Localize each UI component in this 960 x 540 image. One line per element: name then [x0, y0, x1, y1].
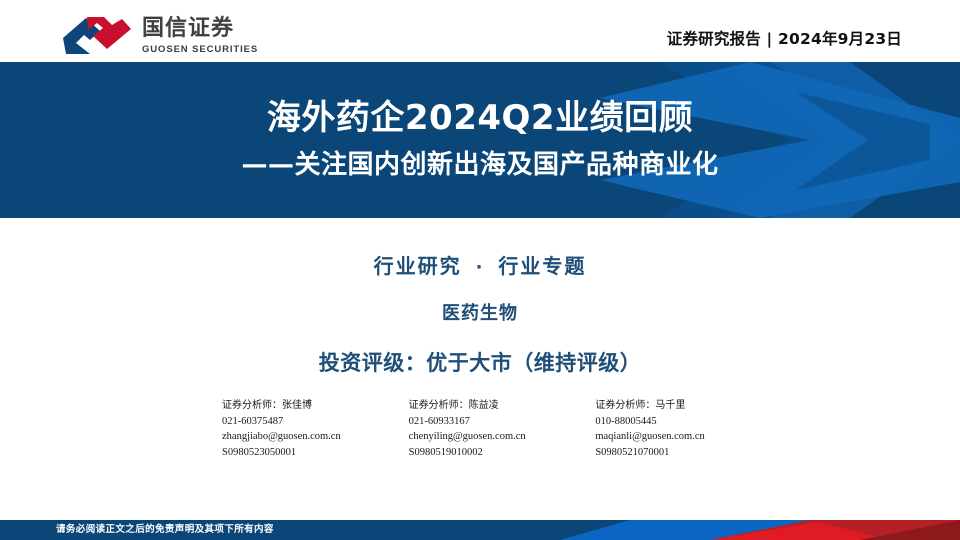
analyst-phone: 010-88005445	[595, 414, 782, 430]
brand-logo-text: 国信证券 GUOSEN SECURITIES	[142, 15, 258, 57]
analyst-email[interactable]: zhangjiabo@guosen.com.cn	[222, 429, 409, 445]
brand-name-en: GUOSEN SECURITIES	[142, 44, 258, 55]
guosen-arrow-logo-icon	[60, 15, 134, 57]
report-type-and-date: 证券研究报告 | 2024年9月23日	[667, 27, 902, 49]
page-subtitle: ——关注国内创新出海及国产品种商业化	[241, 149, 718, 182]
report-cover-page: 国信证券 GUOSEN SECURITIES 证券研究报告 | 2024年9月2…	[0, 0, 960, 540]
analyst-phone: 021-60375487	[222, 414, 409, 430]
footer-ribbon-decoration-icon	[560, 520, 960, 540]
analyst-license-number: S0980519010002	[409, 445, 596, 461]
title-banner: 海外药企2024Q2业绩回顾 ——关注国内创新出海及国产品种商业化	[0, 62, 960, 218]
research-category-line: 行业研究·行业专题	[0, 250, 960, 279]
analyst-phone: 021-60933167	[409, 414, 596, 430]
page-footer: 请务必阅读正文之后的免责声明及其项下所有内容	[0, 520, 960, 540]
category-separator-dot: ·	[476, 257, 485, 278]
analyst-license-number: S0980521070001	[595, 445, 782, 461]
analyst-card: 证券分析师：马千里 010-88005445 maqianli@guosen.c…	[595, 398, 782, 461]
investment-rating: 投资评级：优于大市（维持评级）	[0, 347, 960, 377]
research-category-primary: 行业研究	[374, 254, 462, 278]
research-category-secondary: 行业专题	[498, 254, 586, 278]
analyst-email[interactable]: chenyiling@guosen.com.cn	[409, 429, 596, 445]
analyst-license-number: S0980523050001	[222, 445, 409, 461]
analyst-card: 证券分析师：陈益凌 021-60933167 chenyiling@guosen…	[409, 398, 596, 461]
banner-text-block: 海外药企2024Q2业绩回顾 ——关注国内创新出海及国产品种商业化	[0, 62, 960, 218]
brand-name-cn: 国信证券	[142, 17, 258, 40]
page-title: 海外药企2024Q2业绩回顾	[267, 98, 693, 139]
analyst-card: 证券分析师：张佳博 021-60375487 zhangjiabo@guosen…	[222, 398, 409, 461]
brand-logo: 国信证券 GUOSEN SECURITIES	[60, 14, 258, 58]
industry-name: 医药生物	[0, 299, 960, 325]
analyst-name: 证券分析师：张佳博	[222, 398, 409, 414]
page-header: 国信证券 GUOSEN SECURITIES 证券研究报告 | 2024年9月2…	[0, 0, 960, 62]
footer-disclaimer: 请务必阅读正文之后的免责声明及其项下所有内容	[56, 520, 274, 540]
report-classification-block: 行业研究·行业专题 医药生物 投资评级：优于大市（维持评级）	[0, 218, 960, 377]
analyst-email[interactable]: maqianli@guosen.com.cn	[595, 429, 782, 445]
analyst-name: 证券分析师：陈益凌	[409, 398, 596, 414]
analyst-list: 证券分析师：张佳博 021-60375487 zhangjiabo@guosen…	[222, 398, 782, 461]
analyst-name: 证券分析师：马千里	[595, 398, 782, 414]
